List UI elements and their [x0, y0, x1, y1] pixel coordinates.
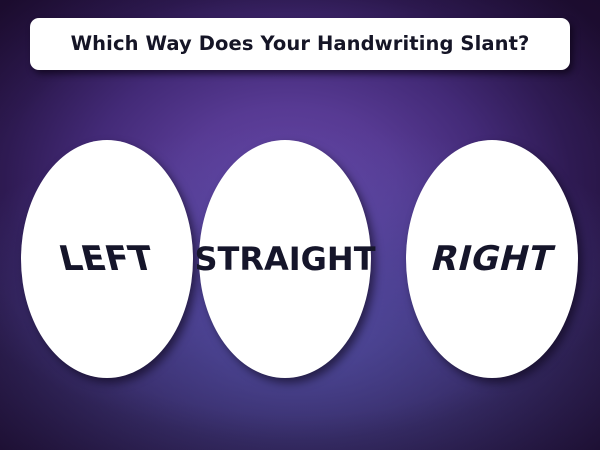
- option-label-right: RIGHT: [427, 242, 556, 276]
- option-shape-right[interactable]: RIGHT: [406, 140, 578, 378]
- option-label-left: LEFT: [56, 242, 158, 276]
- option-label-straight: STRAIGHT: [194, 243, 375, 275]
- slide-canvas: Which Way Does Your Handwriting Slant? L…: [0, 0, 600, 450]
- option-shape-left[interactable]: LEFT: [21, 140, 193, 378]
- option-shape-straight[interactable]: STRAIGHT: [199, 140, 371, 378]
- page-title: Which Way Does Your Handwriting Slant?: [71, 34, 530, 54]
- title-banner: Which Way Does Your Handwriting Slant?: [30, 18, 570, 70]
